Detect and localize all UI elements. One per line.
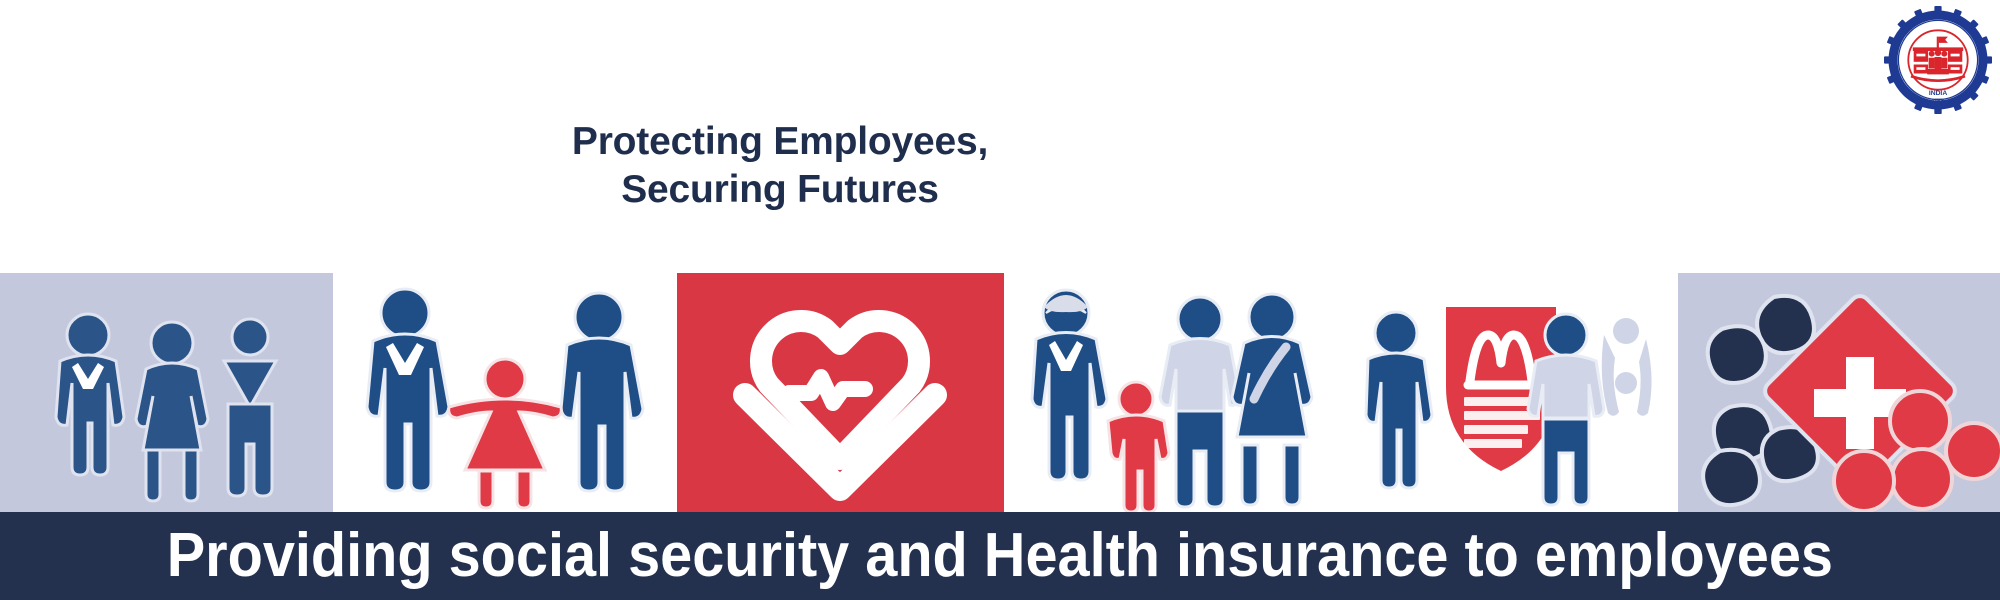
panel-family-group [1004,273,1334,512]
panel-family-of-three [0,273,333,512]
svg-text:INDIA: INDIA [1929,90,1948,97]
panel-shield-protection [1334,273,1678,512]
caption-bar: Providing social security and Health ins… [0,512,2000,600]
headline-line-1: Protecting Employees, [0,118,1560,166]
family-of-three-icon [0,273,333,512]
woman-saree [1232,294,1312,505]
child-figure [449,359,562,508]
svg-text:भारत: भारत [1932,97,1945,104]
parents-with-child-icon [333,273,677,512]
caption-text: Providing social security and Health ins… [167,524,1833,588]
background-figure [1602,318,1652,416]
epfo-logo: INDIA भारत [1884,6,1992,114]
emblem-inner-scene [1908,30,1967,89]
panel-parents-with-child [333,273,677,512]
headline-line-2: Securing Futures [0,166,1560,214]
heartbeat-line [789,377,865,403]
epfo-banner: INDIA भारत Protecting Employees, Securin… [0,0,2000,600]
heart-in-hands-icon [677,273,1004,512]
shield-protection-icon [1334,273,1678,512]
panel-medical-cross [1678,273,2000,512]
family-group-icon [1004,273,1334,512]
illustration-strip [0,273,2000,512]
panel-heart-in-hands [677,273,1004,512]
page-title: Protecting Employees, Securing Futures [0,118,1560,214]
man-light-shirt [1160,297,1240,507]
medical-cross-icon [1678,273,2000,512]
